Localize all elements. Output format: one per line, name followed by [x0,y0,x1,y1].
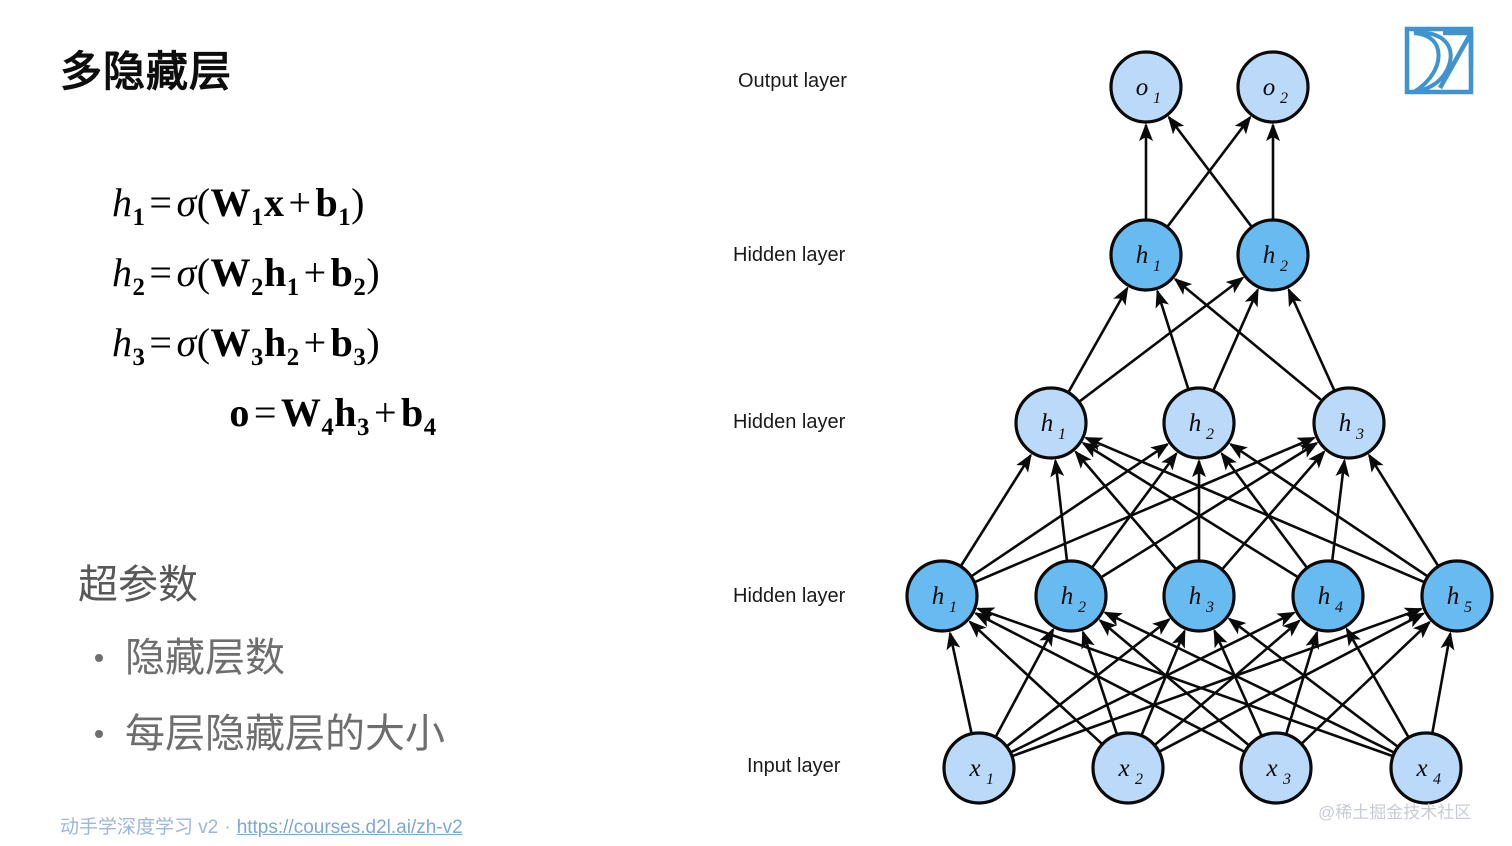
node-label: x [1265,755,1277,782]
node-label-subscript: 2 [1280,258,1288,275]
network-edge [1222,454,1307,568]
network-edge [1231,444,1428,576]
network-nodes: o1o2h1h2h1h2h3h1h2h3h4h5x1x2x3x4 [907,52,1492,803]
node-label-subscript: 3 [1355,426,1364,443]
network-edge [1289,290,1335,391]
node-label-subscript: 4 [1335,599,1343,616]
network-edge [1214,290,1258,390]
network-diagram: o1o2h1h2h1h2h3h1h2h3h4h5x1x2x3x4 [0,0,1512,846]
network-edge [970,622,1102,744]
node-label: h [1447,583,1460,610]
node-label-subscript: 2 [1135,771,1143,788]
network-edge [1175,279,1321,400]
node-label-subscript: 1 [1153,90,1161,107]
node-label-subscript: 5 [1464,599,1472,616]
node-label: h [1318,583,1331,610]
network-edge [1369,455,1438,565]
network-node-h2: h2 [1036,561,1106,631]
network-edge [976,613,1244,751]
network-node-o2: o2 [1238,52,1308,122]
network-node-h3: h3 [1314,388,1384,458]
slide-root: 多隐藏层 h1=σ(W1x+b1) h2=σ(W2h1+b2) h3=σ(W3h… [0,0,1512,846]
node-label-subscript: 2 [1280,90,1288,107]
network-node-x3: x3 [1241,733,1311,803]
d2l-logo-icon [1400,16,1486,98]
node-label: h [1041,410,1054,437]
node-label-subscript: 1 [949,599,957,616]
network-node-x1: x1 [944,733,1014,803]
node-label-subscript: 1 [1058,426,1066,443]
network-edge [996,630,1053,737]
network-node-h1: h1 [1016,388,1086,458]
network-node-o1: o1 [1111,52,1181,122]
network-edge [961,455,1030,565]
node-label-subscript: 1 [1153,258,1161,275]
node-label: x [1415,755,1427,782]
network-edge [1432,633,1450,732]
node-label: h [1136,242,1149,269]
network-edge [1160,614,1423,752]
node-label: h [1189,583,1202,610]
node-label: x [1117,755,1129,782]
node-label: h [1263,242,1276,269]
node-label-subscript: 3 [1282,771,1291,788]
network-node-h2: h2 [1164,388,1234,458]
node-label: o [1136,74,1149,101]
network-node-x2: x2 [1093,733,1163,803]
node-label-subscript: 2 [1078,599,1086,616]
network-node-h4: h4 [1293,561,1363,631]
node-label: x [968,755,980,782]
network-edge [1080,278,1243,401]
network-node-h5: h5 [1422,561,1492,631]
node-label-subscript: 4 [1433,771,1441,788]
node-label: h [1061,583,1074,610]
network-node-h2: h2 [1238,220,1308,290]
network-node-h1: h1 [907,561,977,631]
network-node-h3: h3 [1164,561,1234,631]
node-label: o [1263,74,1276,101]
node-label: h [1189,410,1202,437]
network-edge [1302,622,1429,743]
watermark: @稀土掘金技术社区 [1318,798,1471,823]
network-edge [972,444,1168,576]
node-label: h [932,583,945,610]
network-node-h1: h1 [1111,220,1181,290]
node-label-subscript: 3 [1205,599,1214,616]
network-edge [950,633,971,733]
network-edge [1069,288,1128,392]
network-node-x4: x4 [1391,733,1461,803]
network-edge [1347,629,1408,737]
node-label-subscript: 2 [1206,426,1214,443]
node-label: h [1339,410,1352,437]
node-label-subscript: 1 [986,771,994,788]
